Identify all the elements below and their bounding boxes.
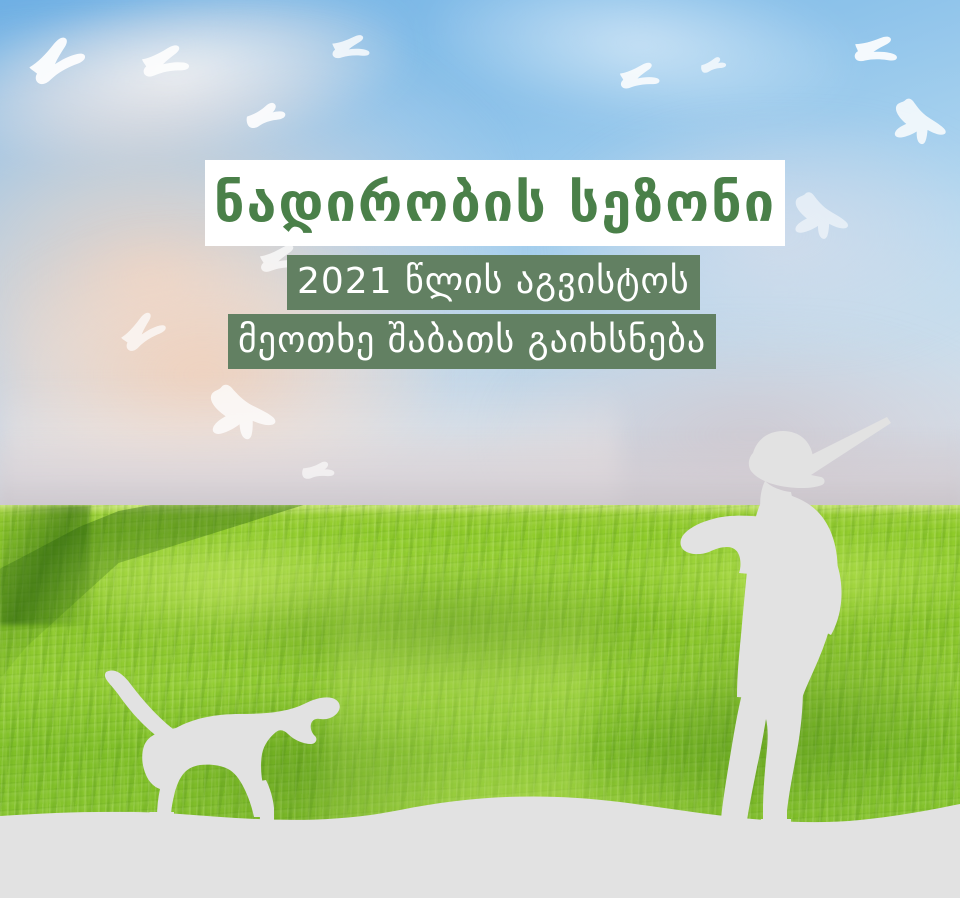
headline-banner: ნადირობის სეზონი [205, 160, 785, 246]
subheadline-line-2: მეოთხე შაბათს გაიხსნება [228, 314, 716, 369]
bottom-ground-band [0, 758, 960, 898]
subheadline-line-1: 2021 წლის აგვისტოს [287, 255, 700, 310]
page-title: ნადირობის სეზონი [214, 176, 776, 230]
poster-canvas: ნადირობის სეზონი 2021 წლის აგვისტოს მეოთ… [0, 0, 960, 898]
subheadline-row-1: 2021 წლის აგვისტოს [0, 255, 960, 310]
field-ridge-edge [0, 505, 90, 625]
subheadline-group: 2021 წლის აგვისტოს მეოთხე შაბათს გაიხსნე… [0, 255, 960, 369]
subheadline-row-2: მეოთხე შაბათს გაიხსნება [0, 314, 960, 369]
